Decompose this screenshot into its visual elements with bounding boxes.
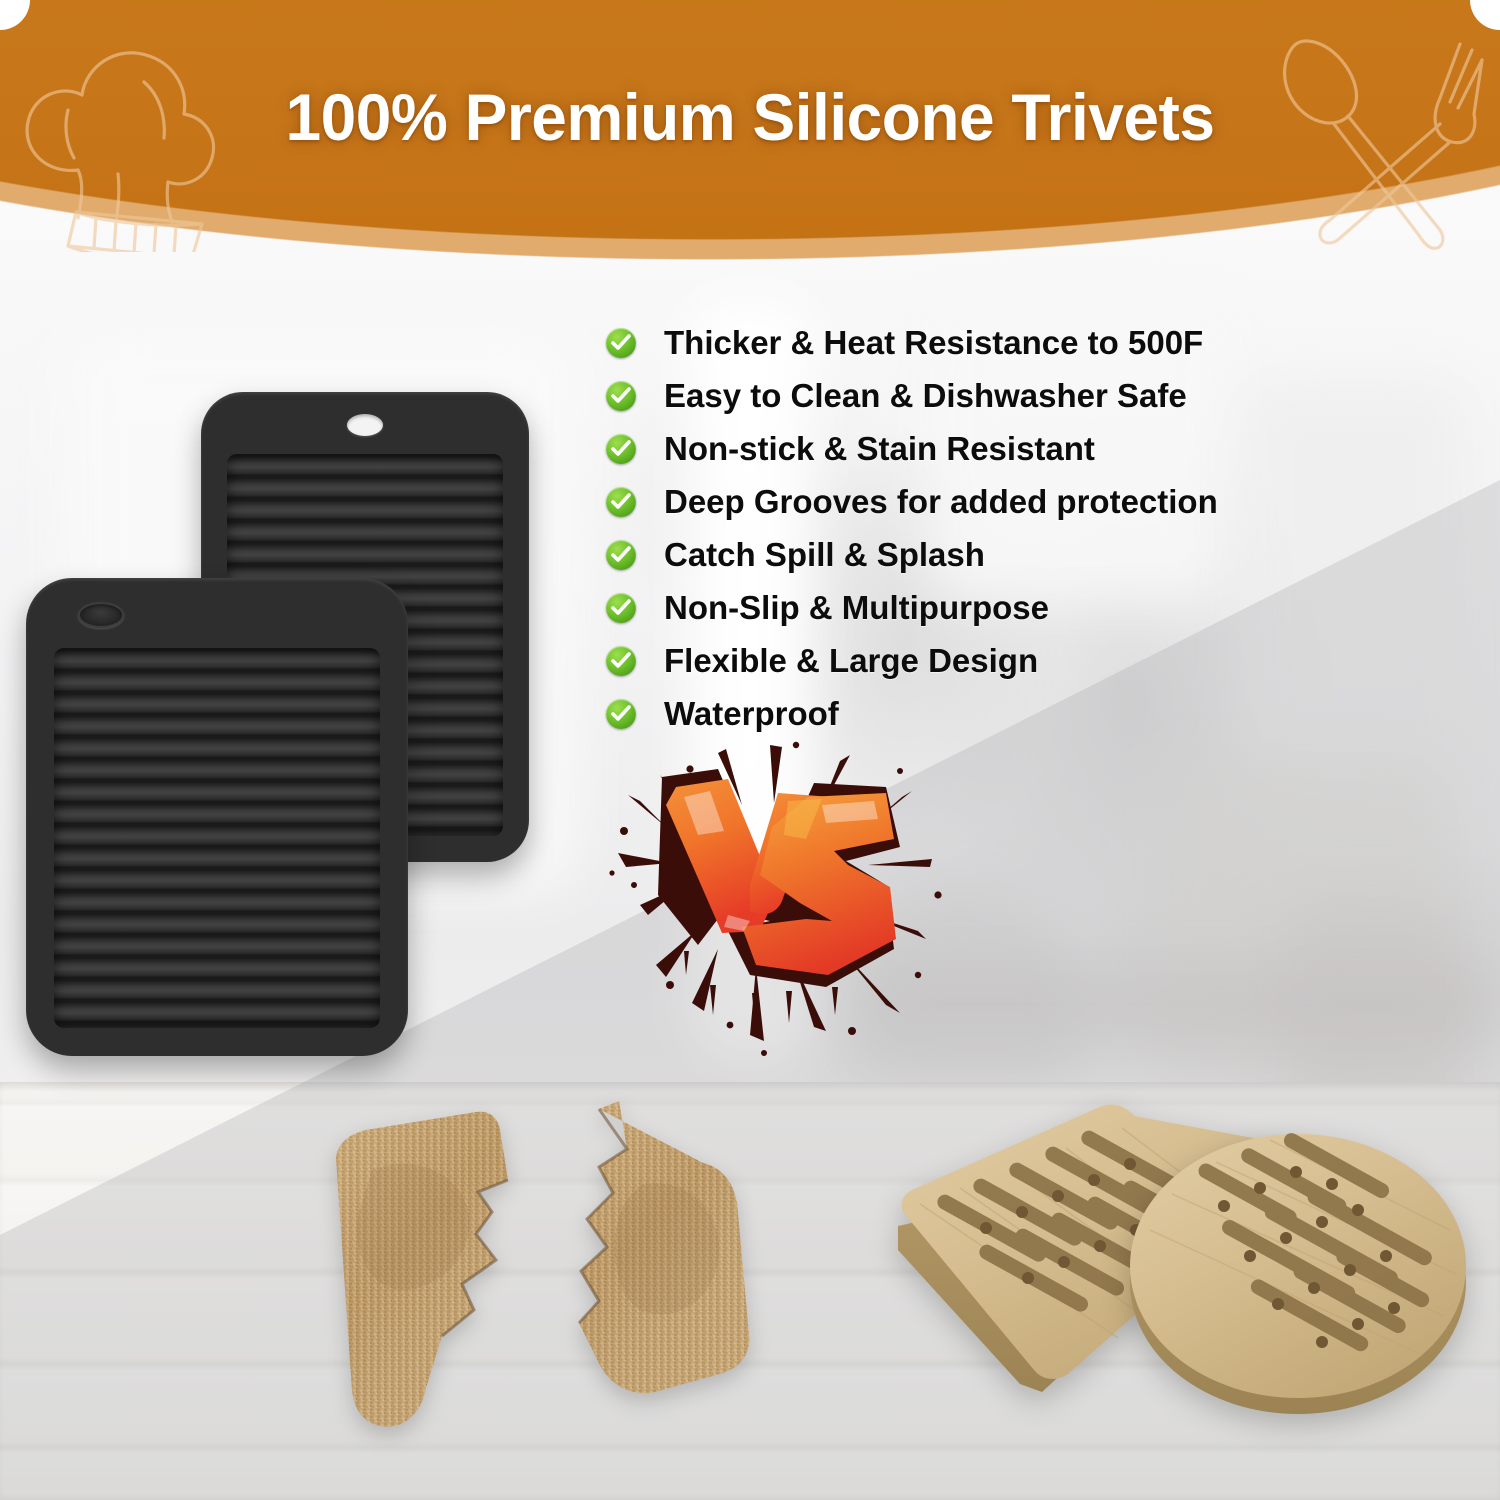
feature-label: Deep Grooves for added protection [664,484,1218,520]
feature-label: Flexible & Large Design [664,643,1038,679]
feature-item: Non-stick & Stain Resistant [606,422,1246,475]
page-title: 100% Premium Silicone Trivets [23,78,1478,156]
feature-list: Thicker & Heat Resistance to 500F Easy t… [606,316,1246,740]
trivet-hanging-hole [78,602,124,628]
feature-label: Catch Spill & Splash [664,537,985,573]
feature-item: Thicker & Heat Resistance to 500F [606,316,1246,369]
feature-item: Deep Grooves for added protection [606,475,1246,528]
feature-item: Flexible & Large Design [606,634,1246,687]
check-icon [606,593,636,623]
header-banner: 100% Premium Silicone Trivets [0,0,1500,360]
check-icon [606,328,636,358]
check-icon [606,434,636,464]
check-icon [606,699,636,729]
feature-label: Waterproof [664,696,839,732]
feature-label: Non-Slip & Multipurpose [664,590,1049,626]
feature-label: Easy to Clean & Dishwasher Safe [664,378,1187,414]
trivet-grooves [54,648,380,1028]
feature-item: Waterproof [606,687,1246,740]
broken-cork-trivet-right-piece [555,1095,770,1440]
feature-item: Catch Spill & Splash [606,528,1246,581]
feature-label: Thicker & Heat Resistance to 500F [664,325,1203,361]
vs-badge [600,735,950,1065]
broken-cork-trivet-left-piece [300,1100,560,1450]
trivet-hanging-hole [347,414,383,436]
background-blur-shape [1240,380,1470,800]
feature-item: Non-Slip & Multipurpose [606,581,1246,634]
bamboo-trivet-round [1120,1110,1480,1440]
feature-label: Non-stick & Stain Resistant [664,431,1095,467]
check-icon [606,646,636,676]
background-blur-shape [860,960,1500,1050]
check-icon [606,540,636,570]
silicone-trivet-front [26,578,408,1056]
feature-item: Easy to Clean & Dishwasher Safe [606,369,1246,422]
counter-edge [0,1082,1500,1092]
check-icon [606,487,636,517]
product-infographic: 100% Premium Silicone Trivets Thicker & … [0,0,1500,1500]
check-icon [606,381,636,411]
